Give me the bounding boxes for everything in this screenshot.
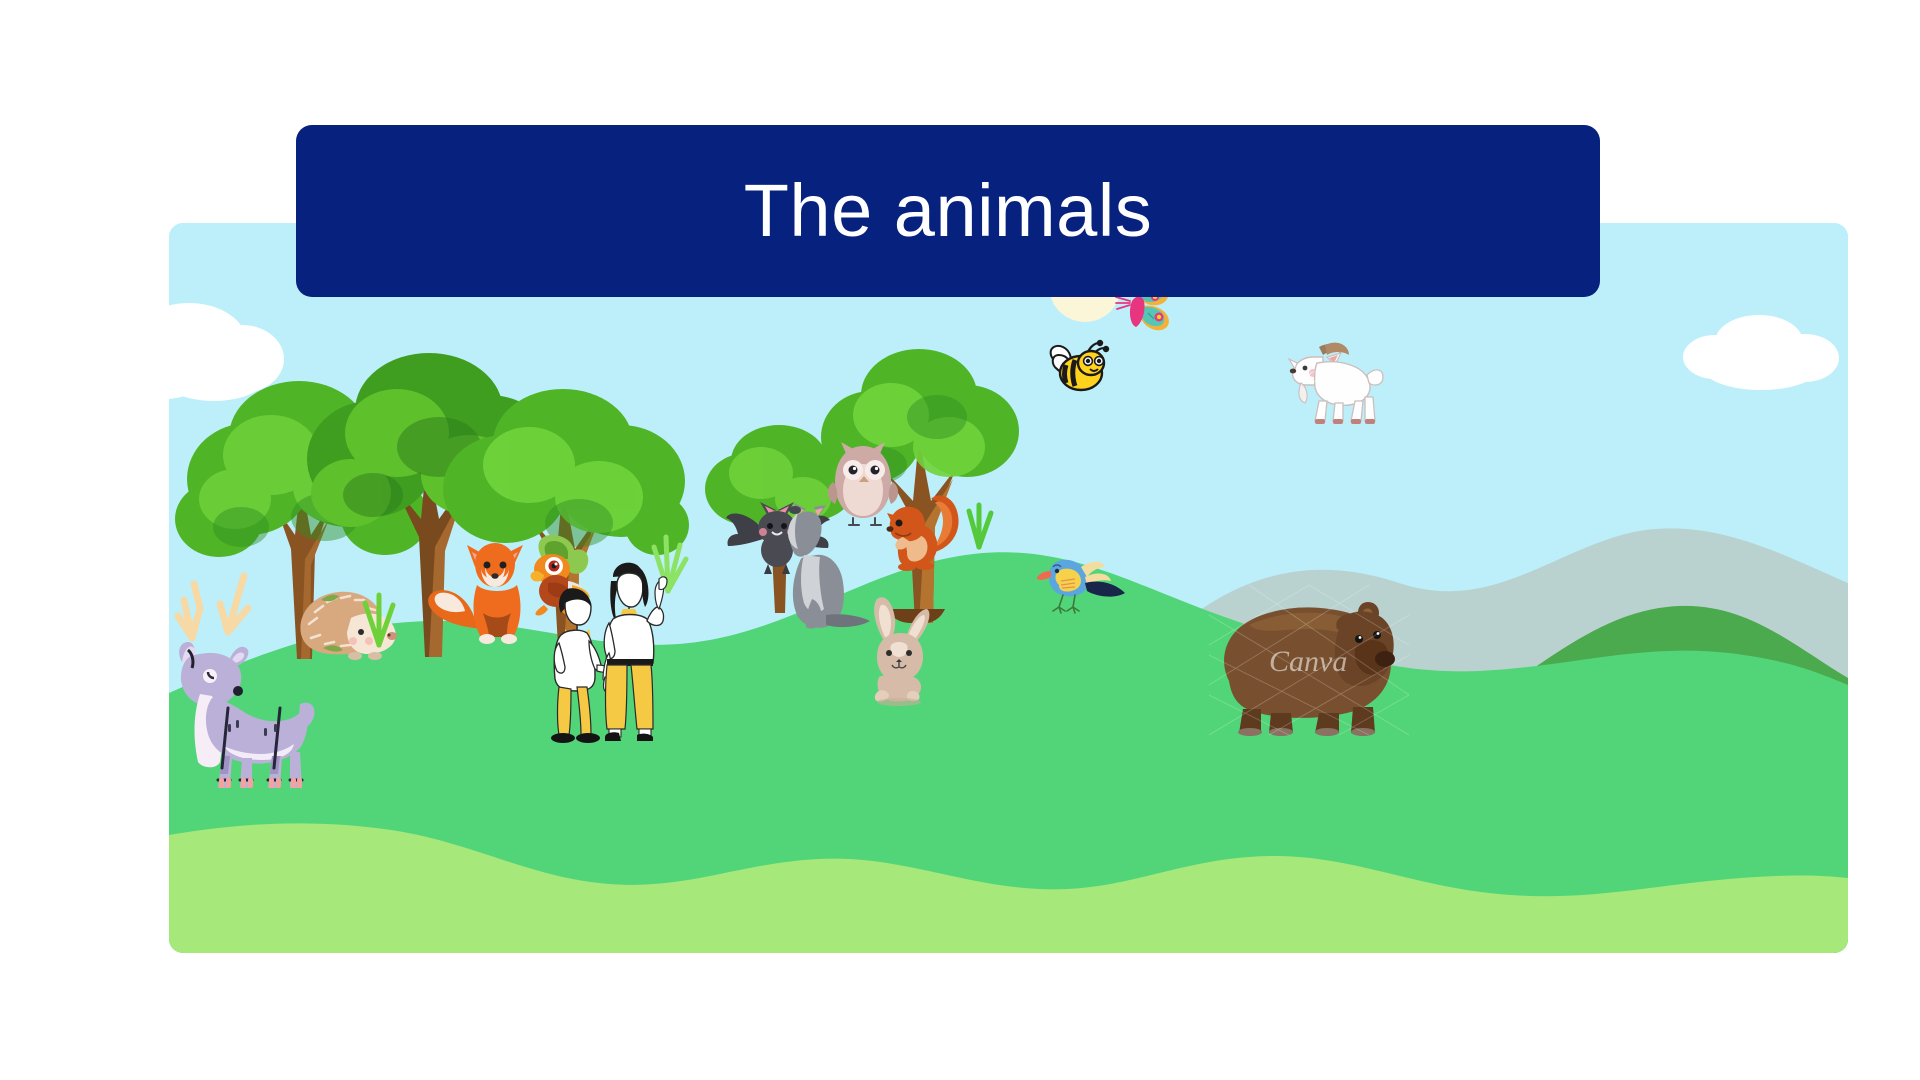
bird-illustration [1029, 553, 1125, 617]
bee-illustration [1047, 341, 1109, 395]
title-banner[interactable]: The animals [296, 125, 1600, 297]
bear-illustration: Canva [1209, 585, 1409, 735]
slide-canvas: Canva [0, 0, 1920, 1080]
page-title: The animals [744, 174, 1153, 248]
rabbit-illustration [861, 595, 941, 705]
cloud-right-icon [1681, 310, 1848, 400]
squirrel-illustration [881, 491, 961, 571]
grass-tuft-left [357, 591, 401, 645]
fox-illustration [419, 533, 539, 653]
scene-illustration: Canva [169, 223, 1848, 953]
goat-illustration: Canva [1279, 335, 1389, 425]
grass-tuft-right [959, 501, 999, 547]
person-woman-illustration [591, 563, 669, 741]
